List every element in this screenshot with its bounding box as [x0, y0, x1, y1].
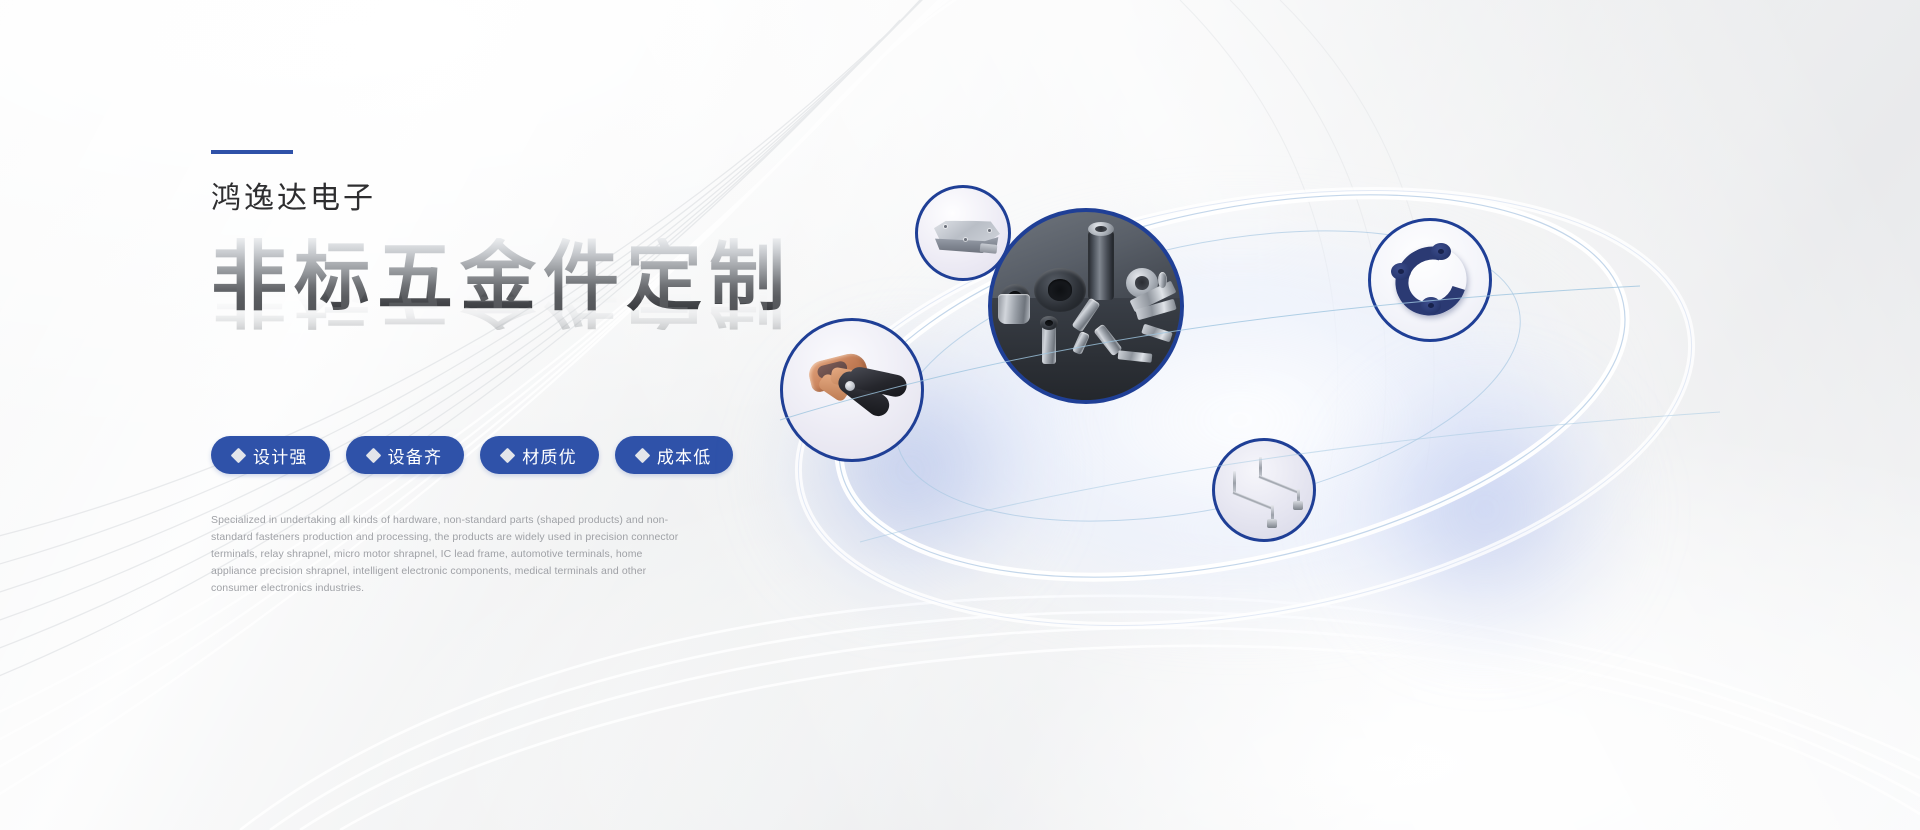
node-bent-wire-terminals[interactable]: [1212, 438, 1316, 542]
accent-rule: [211, 150, 293, 154]
diamond-icon: [500, 447, 516, 463]
diamond-icon: [365, 447, 381, 463]
wire-terminal-illustration: [1215, 441, 1313, 539]
machined-parts-illustration: [992, 212, 1180, 400]
feature-pill-label: 设备齐: [388, 443, 443, 468]
feature-pill-label: 成本低: [657, 443, 712, 468]
feature-pill-equipment[interactable]: 设备齐: [346, 436, 465, 474]
hero-banner: 鸿逸达电子 非标五金件定制 非标五金件定制 设计强 设备齐 材质优 成本低: [0, 0, 1920, 830]
feature-pill-cost[interactable]: 成本低: [615, 436, 734, 474]
company-description: Specialized in undertaking all kinds of …: [211, 512, 681, 597]
battery-clamp-illustration: [783, 321, 921, 459]
c-clip-illustration: [1371, 221, 1489, 339]
feature-pill-material[interactable]: 材质优: [480, 436, 599, 474]
diamond-icon: [231, 447, 247, 463]
feature-pill-design[interactable]: 设计强: [211, 436, 330, 474]
product-showcase: [740, 90, 1870, 710]
feature-pill-label: 材质优: [522, 443, 577, 468]
node-precision-machined-parts[interactable]: [988, 208, 1184, 404]
diamond-icon: [635, 447, 651, 463]
node-navy-c-clip-bracket[interactable]: [1368, 218, 1492, 342]
node-copper-battery-clamp[interactable]: [780, 318, 924, 462]
showcase-glow-right: [1320, 360, 1650, 660]
feature-pill-label: 设计强: [253, 443, 308, 468]
